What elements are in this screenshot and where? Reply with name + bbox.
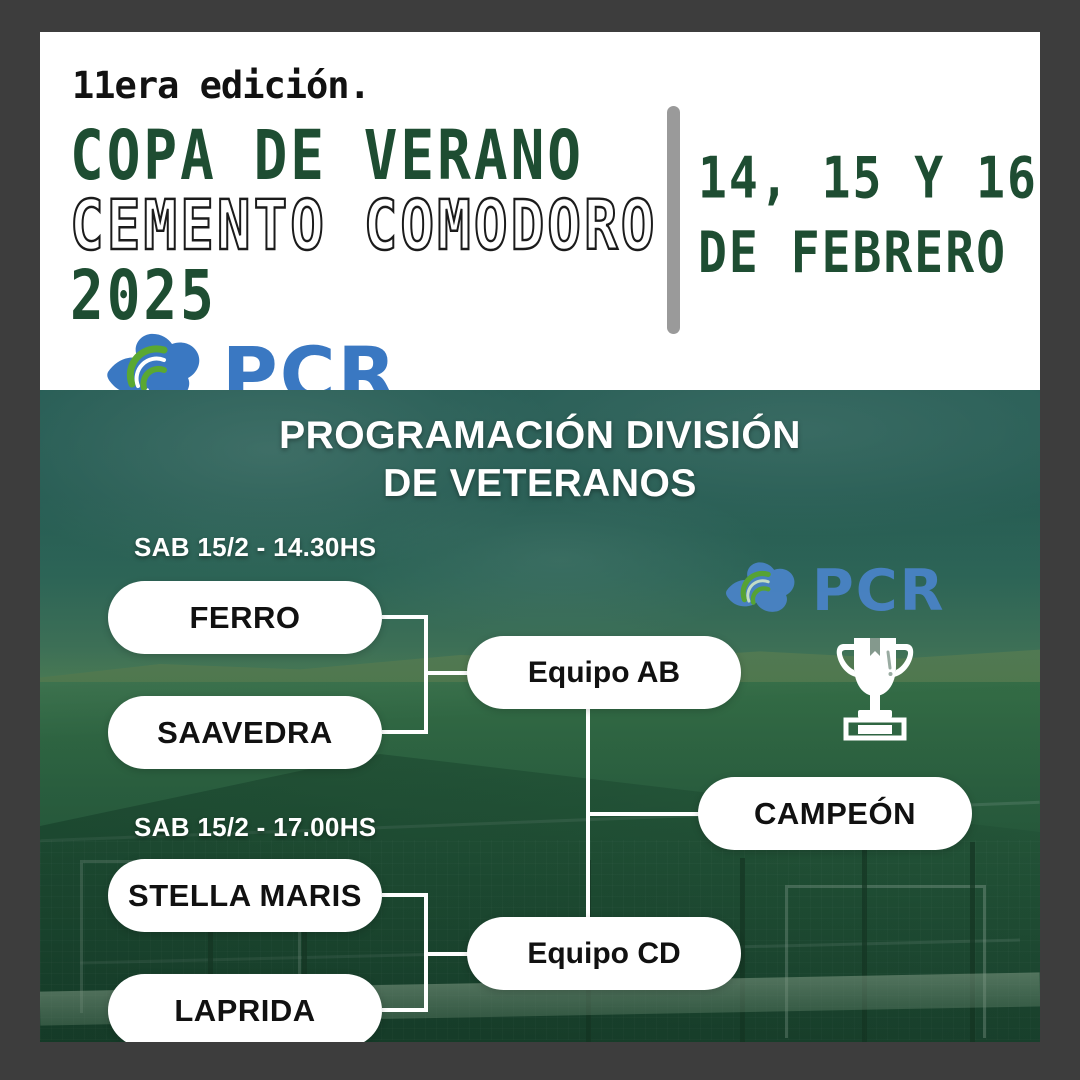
poster-header: 11era edición. COPA DE VERANO CEMENTO CO… xyxy=(40,32,1040,390)
stadium-photo-area: PROGRAMACIÓN DIVISIÓN DE VETERANOS SAB 1… xyxy=(40,390,1040,1042)
title-line-1: COPA DE VERANO xyxy=(70,117,584,196)
programming-title-line-1: PROGRAMACIÓN DIVISIÓN xyxy=(40,412,1040,460)
bracket-connector xyxy=(382,615,428,619)
team-pill-ferro[interactable]: FERRO xyxy=(108,581,382,654)
bracket-connector xyxy=(382,1008,428,1012)
bracket-connector xyxy=(424,671,470,675)
bracket-connector xyxy=(424,952,470,956)
event-dates: 14, 15 Y 16 DE FEBRERO xyxy=(698,142,1038,292)
match-time-slot-1: SAB 15/2 - 14.30HS xyxy=(134,532,376,563)
date-line-2: DE FEBRERO xyxy=(698,217,1038,292)
trophy-icon xyxy=(830,630,920,742)
champion-pill[interactable]: CAMPEÓN xyxy=(698,777,972,850)
bracket-connector xyxy=(382,730,428,734)
bracket-connector xyxy=(382,893,428,897)
edition-label: 11era edición. xyxy=(72,64,370,107)
bracket-connector-final xyxy=(586,812,701,816)
match-time-slot-2: SAB 15/2 - 17.00HS xyxy=(134,812,376,843)
vertical-divider xyxy=(667,106,680,334)
pcr-wordmark: PCR xyxy=(812,558,946,624)
poster-card: 11era edición. COPA DE VERANO CEMENTO CO… xyxy=(40,32,1040,1042)
team-pill-saavedra[interactable]: SAAVEDRA xyxy=(108,696,382,769)
winner-pill-equipo-cd[interactable]: Equipo CD xyxy=(467,917,741,990)
title-year: 2025 xyxy=(70,257,217,336)
pcr-mark-icon xyxy=(722,558,804,616)
date-line-1: 14, 15 Y 16 xyxy=(698,142,1038,217)
title-line-2: CEMENTO COMODORO xyxy=(70,187,657,266)
pcr-logo-photo: PCR xyxy=(722,558,992,616)
programming-title: PROGRAMACIÓN DIVISIÓN DE VETERANOS xyxy=(40,412,1040,507)
team-pill-laprida[interactable]: LAPRIDA xyxy=(108,974,382,1042)
team-pill-stella-maris[interactable]: STELLA MARIS xyxy=(108,859,382,932)
winner-pill-equipo-ab[interactable]: Equipo AB xyxy=(467,636,741,709)
programming-title-line-2: DE VETERANOS xyxy=(40,460,1040,508)
